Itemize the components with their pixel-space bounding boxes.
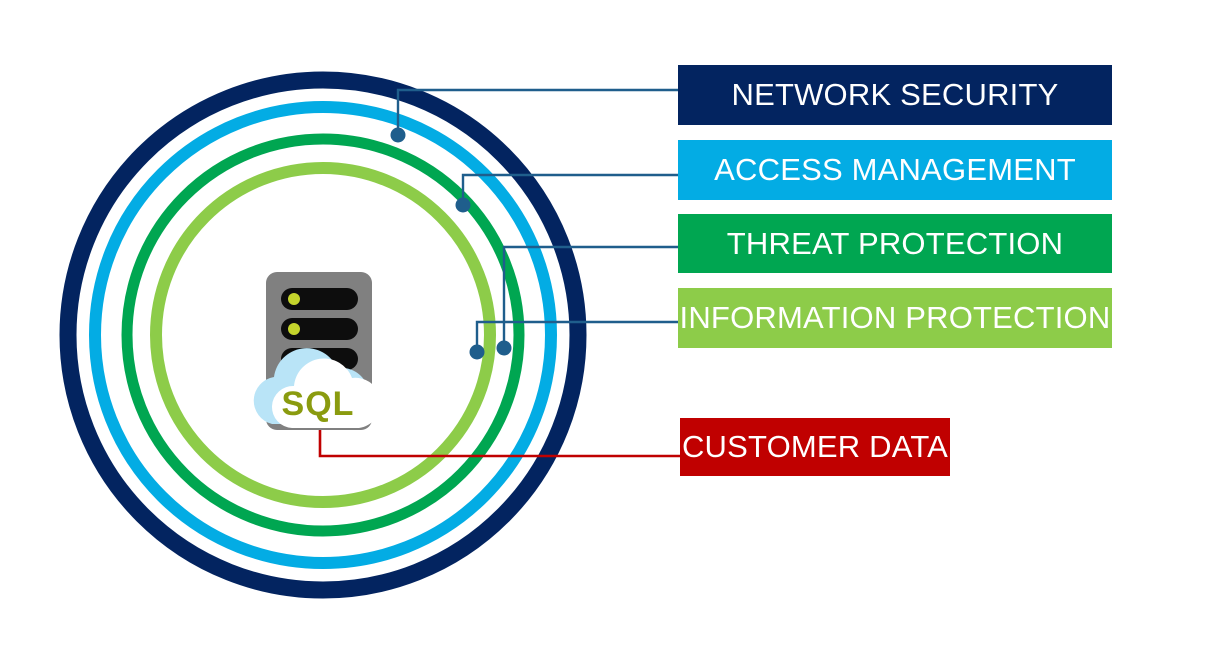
label-information-protection-text: INFORMATION PROTECTION xyxy=(680,300,1111,336)
label-threat-protection[interactable]: THREAT PROTECTION xyxy=(678,214,1112,273)
label-access-management-text: ACCESS MANAGEMENT xyxy=(714,152,1076,188)
server-led-1 xyxy=(288,293,300,305)
label-customer-data[interactable]: CUSTOMER DATA xyxy=(680,418,950,476)
leader-dot-information-protection xyxy=(470,345,485,360)
label-threat-protection-text: THREAT PROTECTION xyxy=(727,226,1063,262)
sql-icon-label: SQL xyxy=(282,385,355,423)
label-information-protection[interactable]: INFORMATION PROTECTION xyxy=(678,288,1112,348)
leader-dot-network-security xyxy=(391,128,406,143)
leader-line-threat-protection xyxy=(504,247,678,346)
sql-server-icon: SQL xyxy=(254,272,381,430)
label-access-management[interactable]: ACCESS MANAGEMENT xyxy=(678,140,1112,200)
label-network-security-text: NETWORK SECURITY xyxy=(732,77,1059,113)
server-led-2 xyxy=(288,323,300,335)
label-network-security[interactable]: NETWORK SECURITY xyxy=(678,65,1112,125)
security-layers-diagram: SQL NETWORK SECURITY ACCESS MANAGEMENT T… xyxy=(0,0,1206,660)
label-customer-data-text: CUSTOMER DATA xyxy=(682,429,948,465)
leader-dot-access-management xyxy=(456,198,471,213)
leader-dot-threat-protection xyxy=(497,341,512,356)
